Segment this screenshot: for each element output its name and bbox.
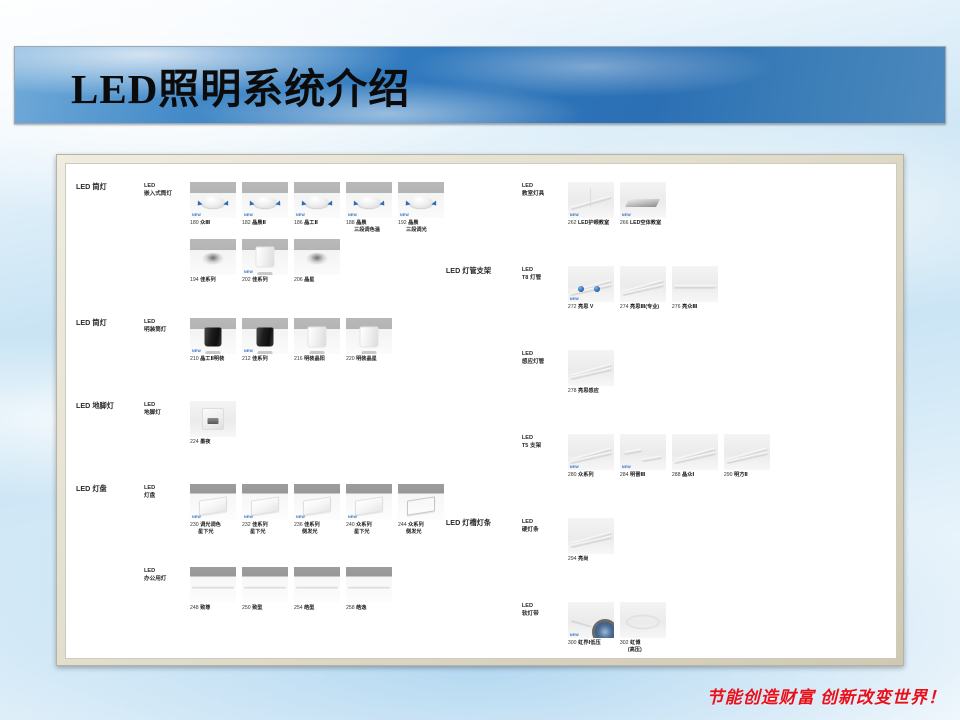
product-number: 230 bbox=[190, 522, 200, 528]
product-row: NEW280 众系列NEW284 明晋Ⅲ288 晶众Ⅰ290 明方Ⅱ bbox=[568, 434, 770, 479]
product-item[interactable]: 216 明装晶阳 bbox=[294, 318, 340, 363]
product-item[interactable]: 274 亮思Ⅲ(专业) bbox=[620, 266, 666, 311]
product-thumbnail[interactable]: NEW bbox=[346, 182, 392, 218]
subgroup-line-2: 地脚灯 bbox=[144, 409, 190, 417]
product-item[interactable]: NEW240 众系列星下光 bbox=[346, 484, 392, 537]
product-item[interactable]: 248 致尊 bbox=[190, 567, 236, 612]
product-name: 晶晨 bbox=[408, 220, 418, 226]
subgroup-line-2: 明装筒灯 bbox=[144, 326, 190, 334]
product-item[interactable]: NEW266 LED空体教室 bbox=[620, 182, 666, 227]
new-badge: NEW bbox=[570, 633, 579, 637]
subgroup-line-1: LED bbox=[144, 401, 190, 409]
product-number: 182 bbox=[242, 220, 252, 226]
product-thumbnail[interactable]: NEW bbox=[190, 318, 236, 354]
product-name: 调光调色 bbox=[200, 522, 221, 528]
product-rows: NEW300 虹界Ⅰ低压302 虹博(高压) bbox=[568, 602, 666, 659]
product-caption: 300 虹界Ⅰ低压 bbox=[568, 640, 614, 647]
product-number: 290 bbox=[724, 472, 734, 478]
product-thumbnail[interactable]: NEW bbox=[398, 182, 444, 218]
product-caption: 182 晶晨Ⅱ bbox=[242, 220, 288, 227]
product-number: 224 bbox=[190, 439, 200, 445]
subgroup-line-2: 硬灯条 bbox=[522, 526, 568, 534]
new-badge: NEW bbox=[622, 465, 631, 469]
product-thumbnail[interactable] bbox=[190, 567, 236, 603]
subgroup-title: LED办公用灯 bbox=[144, 567, 190, 583]
product-number: 302 bbox=[620, 640, 630, 646]
product-rows: NEW272 亮思 V274 亮思Ⅲ(专业)276 亮众Ⅲ bbox=[568, 266, 718, 315]
product-number: 240 bbox=[346, 522, 356, 528]
subgroup-line-1: LED bbox=[522, 434, 568, 442]
subgroup-line-2: T8 灯管 bbox=[522, 274, 568, 282]
product-row: NEW262 LED护眼教室NEW266 LED空体教室 bbox=[568, 182, 666, 227]
product-number: 220 bbox=[346, 356, 356, 362]
product-item[interactable]: 244 众系列侧发光 bbox=[398, 484, 444, 537]
product-caption: 180 众Ⅲ bbox=[190, 220, 236, 227]
product-item[interactable]: NEW272 亮思 V bbox=[568, 266, 614, 311]
subgroup-title: LED软灯带 bbox=[522, 602, 568, 618]
product-thumbnail[interactable]: NEW bbox=[190, 484, 236, 520]
product-name-line2: 侧发光 bbox=[294, 529, 340, 536]
product-name-line2: 侧发光 bbox=[398, 529, 444, 536]
product-thumbnail[interactable]: NEW bbox=[242, 239, 288, 275]
product-name: 明装晶星 bbox=[356, 356, 377, 362]
product-name: 明方Ⅱ bbox=[734, 472, 748, 478]
product-caption: 188 晶晨三段调色温 bbox=[346, 220, 392, 235]
product-thumbnail[interactable]: NEW bbox=[620, 434, 666, 470]
product-thumbnail[interactable]: NEW bbox=[568, 182, 614, 218]
product-item[interactable]: NEW230 调光调色星下光 bbox=[190, 484, 236, 537]
product-row: NEW230 调光调色星下光NEW232 佳系列星下光NEW236 佳系列侧发光… bbox=[190, 484, 444, 537]
product-number: 276 bbox=[672, 304, 682, 310]
product-number: 248 bbox=[190, 605, 200, 611]
product-name: 致型 bbox=[252, 605, 262, 611]
product-rows: NEW230 调光调色星下光NEW232 佳系列星下光NEW236 佳系列侧发光… bbox=[190, 484, 444, 541]
catalog-sheet: LED 筒灯LED嵌入式筒灯NEW180 众ⅢNEW182 晶晨ⅡNEW186 … bbox=[65, 163, 897, 659]
product-name: 佳系列 bbox=[252, 356, 268, 362]
product-name: 亮尚 bbox=[578, 556, 588, 562]
product-item[interactable]: 294 亮尚 bbox=[568, 518, 614, 563]
product-name: 众系列 bbox=[356, 522, 372, 528]
subgroup-title: LED教室灯具 bbox=[522, 182, 568, 198]
product-caption: 210 晶工Ⅱ明装 bbox=[190, 356, 236, 363]
new-badge: NEW bbox=[192, 349, 201, 353]
product-row: 224 墨夜 bbox=[190, 401, 236, 446]
product-thumbnail[interactable] bbox=[190, 401, 236, 437]
subgroup-title: LED感应灯管 bbox=[522, 350, 568, 366]
product-number: 288 bbox=[672, 472, 682, 478]
product-thumbnail[interactable] bbox=[294, 318, 340, 354]
product-thumbnail[interactable] bbox=[568, 350, 614, 386]
product-thumbnail[interactable] bbox=[724, 434, 770, 470]
product-rows: NEW262 LED护眼教室NEW266 LED空体教室 bbox=[568, 182, 666, 231]
product-name: 佳系列 bbox=[304, 522, 320, 528]
product-number: 258 bbox=[346, 605, 356, 611]
product-thumbnail[interactable] bbox=[346, 567, 392, 603]
product-caption: 186 晶工Ⅱ bbox=[294, 220, 340, 227]
new-badge: NEW bbox=[570, 465, 579, 469]
product-caption: 302 虹博(高压) bbox=[620, 640, 666, 655]
product-rows: 224 墨夜 bbox=[190, 401, 236, 450]
product-row: 248 致尊250 致型254 皓型258 皓逸 bbox=[190, 567, 392, 612]
product-caption: 216 明装晶阳 bbox=[294, 356, 340, 363]
product-number: 274 bbox=[620, 304, 630, 310]
product-item[interactable]: NEW280 众系列 bbox=[568, 434, 614, 479]
product-number: 212 bbox=[242, 356, 252, 362]
product-rows: 294 亮尚 bbox=[568, 518, 614, 567]
subgroup-line-2: 办公用灯 bbox=[144, 575, 190, 583]
product-name: 晶晨Ⅱ bbox=[252, 220, 266, 226]
group-title: LED 筒灯 bbox=[76, 318, 144, 328]
product-item[interactable]: NEW188 晶晨三段调色温 bbox=[346, 182, 392, 235]
product-caption: 202 佳系列 bbox=[242, 277, 288, 284]
product-name: LED护眼教室 bbox=[578, 220, 609, 226]
product-caption: 258 皓逸 bbox=[346, 605, 392, 612]
subgroup-title: LED硬灯条 bbox=[522, 518, 568, 534]
product-rows: 248 致尊250 致型254 皓型258 皓逸 bbox=[190, 567, 392, 616]
subgroup-line-2: 嵌入式筒灯 bbox=[144, 190, 190, 198]
product-item[interactable]: 290 明方Ⅱ bbox=[724, 434, 770, 479]
product-number: 294 bbox=[568, 556, 578, 562]
product-number: 194 bbox=[190, 277, 200, 283]
product-caption: 294 亮尚 bbox=[568, 556, 614, 563]
product-item[interactable]: 276 亮众Ⅲ bbox=[672, 266, 718, 311]
new-badge: NEW bbox=[570, 213, 579, 217]
product-name: 众系列 bbox=[578, 472, 594, 478]
new-badge: NEW bbox=[296, 515, 305, 519]
product-caption: 248 致尊 bbox=[190, 605, 236, 612]
product-row: 194 佳系列NEW202 佳系列206 晶星 bbox=[190, 239, 444, 284]
product-item[interactable]: 258 皓逸 bbox=[346, 567, 392, 612]
subgroup-line-2: T5 支架 bbox=[522, 442, 568, 450]
subgroup-title: LEDT8 灯管 bbox=[522, 266, 568, 282]
product-number: 278 bbox=[568, 388, 578, 394]
product-name: 众系列 bbox=[408, 522, 424, 528]
product-number: 272 bbox=[568, 304, 578, 310]
product-thumbnail[interactable] bbox=[242, 567, 288, 603]
subgroup-title: LED地脚灯 bbox=[144, 401, 190, 417]
product-row: 278 亮思感应 bbox=[568, 350, 614, 395]
new-badge: NEW bbox=[244, 515, 253, 519]
product-thumbnail[interactable]: NEW bbox=[294, 182, 340, 218]
product-thumbnail[interactable] bbox=[294, 239, 340, 275]
product-row: NEW180 众ⅢNEW182 晶晨ⅡNEW186 晶工ⅡNEW188 晶晨三段… bbox=[190, 182, 444, 235]
new-badge: NEW bbox=[244, 213, 253, 217]
product-name: 佳系列 bbox=[252, 277, 268, 283]
product-row: NEW300 虹界Ⅰ低压302 虹博(高压) bbox=[568, 602, 666, 655]
product-item[interactable]: NEW284 明晋Ⅲ bbox=[620, 434, 666, 479]
product-name: 晶星 bbox=[304, 277, 314, 283]
product-thumbnail[interactable]: NEW bbox=[190, 182, 236, 218]
subgroup-line-2: 灯盘 bbox=[144, 492, 190, 500]
product-name: 虹博 bbox=[630, 640, 640, 646]
product-number: 210 bbox=[190, 356, 200, 362]
product-item[interactable]: 254 皓型 bbox=[294, 567, 340, 612]
product-number: 188 bbox=[346, 220, 356, 226]
product-number: 300 bbox=[568, 640, 578, 646]
product-name-line2: 星下光 bbox=[346, 529, 392, 536]
new-badge: NEW bbox=[192, 515, 201, 519]
product-rows: NEW280 众系列NEW284 明晋Ⅲ288 晶众Ⅰ290 明方Ⅱ bbox=[568, 434, 770, 483]
product-item[interactable]: NEW232 佳系列星下光 bbox=[242, 484, 288, 537]
product-thumbnail[interactable] bbox=[620, 266, 666, 302]
product-rows: 278 亮思感应 bbox=[568, 350, 614, 399]
product-name: 皓逸 bbox=[356, 605, 366, 611]
product-caption: 244 众系列侧发光 bbox=[398, 522, 444, 537]
product-name: 虹界Ⅰ低压 bbox=[578, 640, 601, 646]
new-badge: NEW bbox=[400, 213, 409, 217]
subgroup-line-2: 软灯带 bbox=[522, 610, 568, 618]
product-number: 202 bbox=[242, 277, 252, 283]
product-thumbnail[interactable] bbox=[568, 518, 614, 554]
new-badge: NEW bbox=[244, 270, 253, 274]
title-banner: LED照明系统介绍 bbox=[14, 46, 946, 124]
product-number: 244 bbox=[398, 522, 408, 528]
product-item[interactable]: NEW182 晶晨Ⅱ bbox=[242, 182, 288, 235]
product-number: 250 bbox=[242, 605, 252, 611]
product-caption: 212 佳系列 bbox=[242, 356, 288, 363]
product-name-line2: 三段调光 bbox=[398, 227, 444, 234]
product-number: 180 bbox=[190, 220, 200, 226]
product-thumbnail[interactable] bbox=[346, 318, 392, 354]
product-name: 明装晶阳 bbox=[304, 356, 325, 362]
product-thumbnail[interactable]: NEW bbox=[346, 484, 392, 520]
new-badge: NEW bbox=[622, 213, 631, 217]
subgroup-line-1: LED bbox=[522, 518, 568, 526]
product-thumbnail[interactable] bbox=[190, 239, 236, 275]
subgroup-line-1: LED bbox=[522, 266, 568, 274]
product-name: 亮思感应 bbox=[578, 388, 599, 394]
subgroup-title: LED明装筒灯 bbox=[144, 318, 190, 334]
slide-canvas: LED照明系统介绍 LED 筒灯LED嵌入式筒灯NEW180 众ⅢNEW182 … bbox=[0, 0, 960, 720]
product-name-line2: 星下光 bbox=[190, 529, 236, 536]
product-item[interactable]: NEW180 众Ⅲ bbox=[190, 182, 236, 235]
new-badge: NEW bbox=[192, 213, 201, 217]
product-name: 亮思Ⅲ(专业) bbox=[630, 304, 659, 310]
product-item[interactable]: NEW236 佳系列侧发光 bbox=[294, 484, 340, 537]
product-name: 晶工Ⅱ bbox=[304, 220, 318, 226]
product-name: 晶晨 bbox=[356, 220, 366, 226]
product-number: 206 bbox=[294, 277, 304, 283]
product-caption: 192 晶晨三段调光 bbox=[398, 220, 444, 235]
product-caption: 288 晶众Ⅰ bbox=[672, 472, 718, 479]
product-thumbnail[interactable] bbox=[672, 434, 718, 470]
product-name: 佳系列 bbox=[200, 277, 216, 283]
product-number: 186 bbox=[294, 220, 304, 226]
product-name: 佳系列 bbox=[252, 522, 268, 528]
product-name: 亮思 V bbox=[578, 304, 593, 310]
product-caption: 232 佳系列星下光 bbox=[242, 522, 288, 537]
product-item[interactable]: NEW300 虹界Ⅰ低压 bbox=[568, 602, 614, 655]
product-name: 众Ⅲ bbox=[200, 220, 210, 226]
product-number: 232 bbox=[242, 522, 252, 528]
product-row: NEW210 晶工Ⅱ明装NEW212 佳系列216 明装晶阳220 明装晶星 bbox=[190, 318, 392, 363]
page-title: LED照明系统介绍 bbox=[71, 55, 410, 115]
product-item[interactable]: NEW202 佳系列 bbox=[242, 239, 288, 284]
subgroup-line-1: LED bbox=[522, 182, 568, 190]
product-caption: 240 众系列星下光 bbox=[346, 522, 392, 537]
product-item[interactable]: 250 致型 bbox=[242, 567, 288, 612]
subgroup-title: LED嵌入式筒灯 bbox=[144, 182, 190, 198]
subgroup-line-1: LED bbox=[144, 318, 190, 326]
product-thumbnail[interactable]: NEW bbox=[242, 484, 288, 520]
new-badge: NEW bbox=[348, 213, 357, 217]
product-thumbnail[interactable] bbox=[620, 602, 666, 638]
new-badge: NEW bbox=[244, 349, 253, 353]
product-caption: 230 调光调色星下光 bbox=[190, 522, 236, 537]
product-name-line2: 三段调色温 bbox=[346, 227, 392, 234]
product-name: 亮众Ⅲ bbox=[682, 304, 697, 310]
product-item[interactable]: 194 佳系列 bbox=[190, 239, 236, 284]
product-thumbnail[interactable] bbox=[672, 266, 718, 302]
product-thumbnail[interactable]: NEW bbox=[294, 484, 340, 520]
product-item[interactable]: NEW192 晶晨三段调光 bbox=[398, 182, 444, 235]
product-caption: 284 明晋Ⅲ bbox=[620, 472, 666, 479]
product-number: 280 bbox=[568, 472, 578, 478]
subgroup-line-2: 教室灯具 bbox=[522, 190, 568, 198]
product-item[interactable]: 220 明装晶星 bbox=[346, 318, 392, 363]
product-number: 284 bbox=[620, 472, 630, 478]
product-item[interactable]: 278 亮思感应 bbox=[568, 350, 614, 395]
product-name: LED空体教室 bbox=[630, 220, 661, 226]
subgroup-line-1: LED bbox=[144, 484, 190, 492]
product-caption: 276 亮众Ⅲ bbox=[672, 304, 718, 311]
product-caption: 272 亮思 V bbox=[568, 304, 614, 311]
product-name: 皓型 bbox=[304, 605, 314, 611]
new-badge: NEW bbox=[348, 515, 357, 519]
catalog-frame: LED 筒灯LED嵌入式筒灯NEW180 众ⅢNEW182 晶晨ⅡNEW186 … bbox=[56, 154, 904, 666]
product-caption: 278 亮思感应 bbox=[568, 388, 614, 395]
product-item[interactable]: 206 晶星 bbox=[294, 239, 340, 284]
product-caption: 290 明方Ⅱ bbox=[724, 472, 770, 479]
product-thumbnail[interactable]: NEW bbox=[620, 182, 666, 218]
subgroup-line-1: LED bbox=[522, 602, 568, 610]
subgroup-line-1: LED bbox=[522, 350, 568, 358]
subgroup-line-2: 感应灯管 bbox=[522, 358, 568, 366]
product-item[interactable]: NEW186 晶工Ⅱ bbox=[294, 182, 340, 235]
group-title: LED 筒灯 bbox=[76, 182, 144, 192]
product-caption: 206 晶星 bbox=[294, 277, 340, 284]
product-name: 晶工Ⅱ明装 bbox=[200, 356, 224, 362]
product-rows: NEW210 晶工Ⅱ明装NEW212 佳系列216 明装晶阳220 明装晶星 bbox=[190, 318, 392, 367]
product-caption: 224 墨夜 bbox=[190, 439, 236, 446]
subgroup-title: LED灯盘 bbox=[144, 484, 190, 500]
product-name: 墨夜 bbox=[200, 439, 210, 445]
product-item[interactable]: 302 虹博(高压) bbox=[620, 602, 666, 655]
product-caption: 254 皓型 bbox=[294, 605, 340, 612]
product-item[interactable]: NEW212 佳系列 bbox=[242, 318, 288, 363]
product-row: NEW272 亮思 V274 亮思Ⅲ(专业)276 亮众Ⅲ bbox=[568, 266, 718, 311]
product-thumbnail[interactable] bbox=[398, 484, 444, 520]
product-number: 262 bbox=[568, 220, 578, 226]
product-caption: 236 佳系列侧发光 bbox=[294, 522, 340, 537]
product-name-line2: (高压) bbox=[620, 647, 666, 654]
product-name: 致尊 bbox=[200, 605, 210, 611]
product-number: 236 bbox=[294, 522, 304, 528]
product-thumbnail[interactable]: NEW bbox=[242, 318, 288, 354]
product-rows: NEW180 众ⅢNEW182 晶晨ⅡNEW186 晶工ⅡNEW188 晶晨三段… bbox=[190, 182, 444, 288]
new-badge: NEW bbox=[570, 297, 579, 301]
product-caption: 220 明装晶星 bbox=[346, 356, 392, 363]
group-title: LED 灯盘 bbox=[76, 484, 144, 494]
product-name: 晶众Ⅰ bbox=[682, 472, 694, 478]
product-number: 192 bbox=[398, 220, 408, 226]
slogan-text: 节能创造财富 创新改变世界！ bbox=[707, 683, 946, 708]
product-caption: 266 LED空体教室 bbox=[620, 220, 666, 227]
subgroup-line-1: LED bbox=[144, 182, 190, 190]
product-caption: 250 致型 bbox=[242, 605, 288, 612]
product-thumbnail[interactable]: NEW bbox=[568, 434, 614, 470]
product-item[interactable]: NEW262 LED护眼教室 bbox=[568, 182, 614, 227]
subgroup-line-1: LED bbox=[144, 567, 190, 575]
product-number: 254 bbox=[294, 605, 304, 611]
new-badge: NEW bbox=[296, 213, 305, 217]
product-thumbnail[interactable]: NEW bbox=[242, 182, 288, 218]
product-item[interactable]: NEW210 晶工Ⅱ明装 bbox=[190, 318, 236, 363]
product-item[interactable]: 288 晶众Ⅰ bbox=[672, 434, 718, 479]
product-number: 216 bbox=[294, 356, 304, 362]
product-row: 294 亮尚 bbox=[568, 518, 614, 563]
product-caption: 262 LED护眼教室 bbox=[568, 220, 614, 227]
product-thumbnail[interactable]: NEW bbox=[568, 602, 614, 638]
product-number: 266 bbox=[620, 220, 630, 226]
product-caption: 274 亮思Ⅲ(专业) bbox=[620, 304, 666, 311]
subgroup-title: LEDT5 支架 bbox=[522, 434, 568, 450]
product-name-line2: 星下光 bbox=[242, 529, 288, 536]
product-caption: 194 佳系列 bbox=[190, 277, 236, 284]
product-thumbnail[interactable] bbox=[294, 567, 340, 603]
product-item[interactable]: 224 墨夜 bbox=[190, 401, 236, 446]
product-name: 明晋Ⅲ bbox=[630, 472, 645, 478]
product-caption: 280 众系列 bbox=[568, 472, 614, 479]
product-thumbnail[interactable]: NEW bbox=[568, 266, 614, 302]
